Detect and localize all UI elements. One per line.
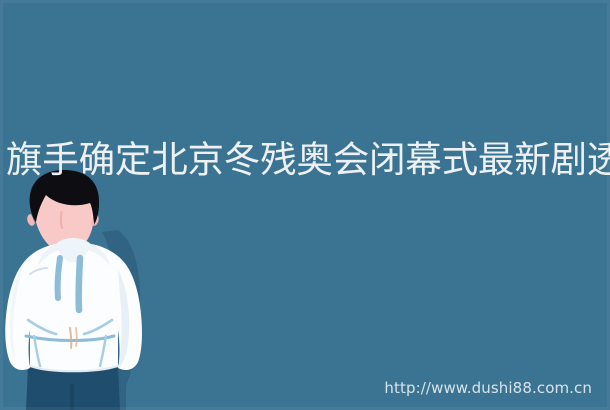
person-illustration	[0, 170, 190, 410]
headline-text: 旗手确定北京冬残奥会闭幕式最新剧透来了	[6, 139, 610, 181]
site-watermark: http://www.dushi88.com.cn	[384, 379, 592, 397]
news-thumbnail-card: 旗手确定北京冬残奥会闭幕式最新剧透来了 http://www.dushi88.c…	[0, 0, 610, 410]
pants	[26, 366, 120, 410]
